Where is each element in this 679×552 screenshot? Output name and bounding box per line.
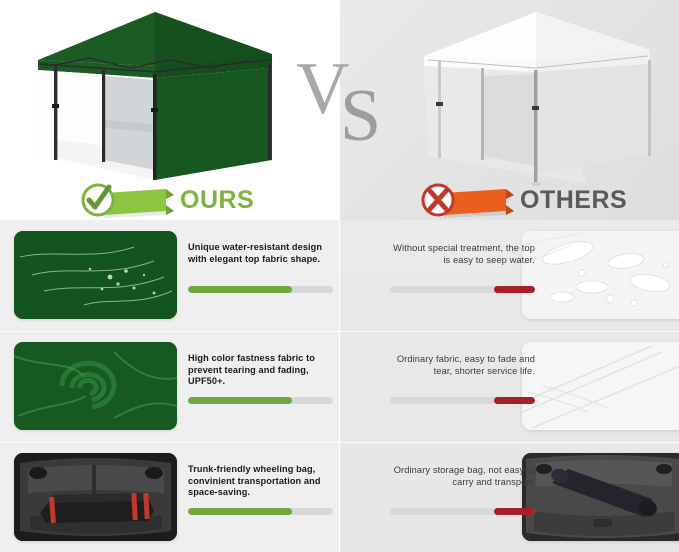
white-canopy-tent-icon	[418, 6, 658, 196]
bar-fill	[494, 286, 535, 293]
bar-fill	[494, 508, 535, 515]
ours-feature-text: Trunk-friendly wheeling bag, convinient …	[188, 464, 333, 499]
ours-rating-bar	[188, 397, 333, 404]
others-label: OTHERS	[520, 186, 627, 215]
comparison-row: Trunk-friendly wheeling bag, convinient …	[0, 442, 679, 552]
row-separator	[0, 331, 679, 332]
hero-section: V S OURS	[0, 0, 679, 220]
others-rating-bar	[390, 397, 535, 404]
ours-feature-text: Unique water-resistant design with elega…	[188, 242, 333, 265]
water-pooling-white-fabric-photo	[522, 231, 679, 319]
ours-badge: OURS	[78, 180, 254, 220]
ours-label: OURS	[180, 186, 254, 215]
others-feature-text: Ordinary storage bag, not easy to carry …	[390, 464, 535, 488]
ours-rating-bar	[188, 508, 333, 515]
comparison-infographic: V S OURS	[0, 0, 679, 552]
cross-circle-icon	[418, 180, 458, 220]
versus-label: V S	[296, 52, 392, 157]
green-canopy-tent-icon	[30, 8, 280, 188]
others-feature-text: Ordinary fabric, easy to fade and tear, …	[390, 353, 535, 377]
comparison-grid: Unique water-resistant design with elega…	[0, 220, 679, 552]
ordinary-storage-bag-in-trunk-photo	[522, 453, 679, 541]
water-beading-green-fabric-photo	[14, 231, 177, 319]
comparison-row: Unique water-resistant design with elega…	[0, 220, 679, 330]
check-circle-icon	[78, 180, 118, 220]
faded-white-fabric-photo	[522, 342, 679, 430]
green-twisted-fabric-photo	[14, 342, 177, 430]
others-badge: OTHERS	[418, 180, 627, 220]
others-feature-text: Without special treatment, the top is ea…	[390, 242, 535, 266]
wheeling-bag-in-car-trunk-photo	[14, 453, 177, 541]
comparison-row: High color fastness fabric to prevent te…	[0, 331, 679, 441]
vs-letter-s: S	[340, 79, 381, 153]
ours-feature-text: High color fastness fabric to prevent te…	[188, 353, 333, 388]
bar-fill	[188, 397, 292, 404]
bar-fill	[188, 286, 292, 293]
bar-fill	[188, 508, 292, 515]
row-separator	[0, 442, 679, 443]
bar-fill	[494, 397, 535, 404]
others-rating-bar	[390, 508, 535, 515]
others-rating-bar	[390, 286, 535, 293]
ours-rating-bar	[188, 286, 333, 293]
